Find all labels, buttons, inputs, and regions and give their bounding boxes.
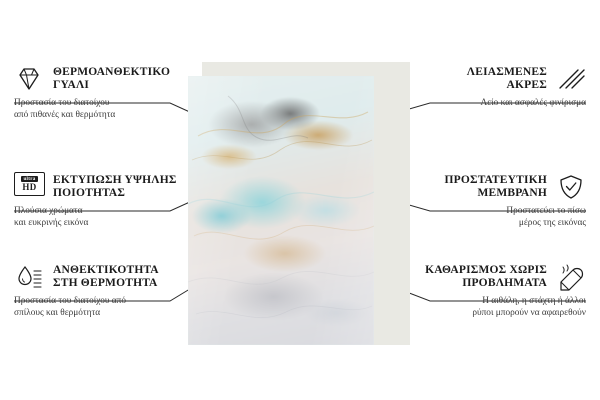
feature-title: ΠΡΟΣΤΑΤΕΥΤΙΚΗ ΜΕΜΒΡΑΝΗ: [445, 174, 547, 200]
feature-title: ΘΕΡΜΟΑΝΘΕΚΤΙΚΟ ΓΥΑΛΙ: [53, 66, 170, 92]
water-drop-heat-icon: [14, 262, 44, 292]
feature-desc-line1: Η αιθάλη, η στάχτη ή άλλοι: [396, 296, 586, 308]
sponge-clean-icon: [556, 262, 586, 292]
feature-desc-line1: Προστασία του διατοίχου: [14, 98, 204, 110]
feature-desc-line2: και ευκρινής εικόνα: [14, 218, 204, 230]
feature-desc-line1: Προστασία του διατοίχου από: [14, 296, 204, 308]
feature-header: ΘΕΡΜΟΑΝΘΕΚΤΙΚΟ ΓΥΑΛΙ: [14, 64, 204, 94]
feature-header: ultra HD ΕΚΤΥΠΩΣΗ ΥΨΗΛΗΣ ΠΟΙΟΤΗΤΑΣ: [14, 172, 204, 202]
ultra-hd-icon: ultra HD: [14, 172, 44, 202]
feature-desc-line1: Πλούσια χρώματα: [14, 206, 204, 218]
feature-header: ΠΡΟΣΤΑΤΕΥΤΙΚΗ ΜΕΜΒΡΑΝΗ: [396, 172, 586, 202]
glass-splashback-preview: [188, 76, 374, 345]
diagonal-lines-icon: [556, 64, 586, 94]
feature-protective-membrane: ΠΡΟΣΤΑΤΕΥΤΙΚΗ ΜΕΜΒΡΑΝΗ Προστατεύει το πί…: [396, 172, 586, 229]
feature-desc-line2: ρύποι μπορούν να αφαιρεθούν: [396, 308, 586, 320]
infographic-stage: ΘΕΡΜΟΑΝΘΕΚΤΙΚΟ ΓΥΑΛΙ Προστασία του διατο…: [0, 0, 600, 400]
feature-title: ΛΕΙΑΣΜΕΝΕΣ ΑΚΡΕΣ: [467, 66, 547, 92]
feature-desc-line2: σπίλους και θερμότητα: [14, 308, 204, 320]
feature-desc-line2: από πιθανές και θερμότητα: [14, 110, 204, 122]
feature-header: ΑΝΘΕΚΤΙΚΟΤΗΤΑ ΣΤΗ ΘΕΡΜΟΤΗΤΑ: [14, 262, 204, 292]
feature-thermal-glass: ΘΕΡΜΟΑΝΘΕΚΤΙΚΟ ΓΥΑΛΙ Προστασία του διατο…: [14, 64, 204, 121]
diamond-icon: [14, 64, 44, 94]
feature-title: ΚΑΘΑΡΙΣΜΟΣ ΧΩΡΙΣ ΠΡΟΒΛΗΜΑΤΑ: [425, 264, 547, 290]
feature-desc-line1: Προστατεύει το πίσω: [396, 206, 586, 218]
feature-easy-cleaning: ΚΑΘΑΡΙΣΜΟΣ ΧΩΡΙΣ ΠΡΟΒΛΗΜΑΤΑ Η αιθάλη, η …: [396, 262, 586, 319]
glass-gloss: [188, 76, 374, 345]
feature-smooth-edges: ΛΕΙΑΣΜΕΝΕΣ ΑΚΡΕΣ Λείο και ασφαλές φινίρι…: [396, 64, 586, 110]
feature-title: ΕΚΤΥΠΩΣΗ ΥΨΗΛΗΣ ΠΟΙΟΤΗΤΑΣ: [53, 174, 177, 200]
product-image: [188, 62, 412, 347]
shield-check-icon: [556, 172, 586, 202]
feature-heat-resistance: ΑΝΘΕΚΤΙΚΟΤΗΤΑ ΣΤΗ ΘΕΡΜΟΤΗΤΑ Προστασία το…: [14, 262, 204, 319]
feature-title: ΑΝΘΕΚΤΙΚΟΤΗΤΑ ΣΤΗ ΘΕΡΜΟΤΗΤΑ: [53, 264, 159, 290]
feature-high-quality-print: ultra HD ΕΚΤΥΠΩΣΗ ΥΨΗΛΗΣ ΠΟΙΟΤΗΤΑΣ Πλούσ…: [14, 172, 204, 229]
feature-header: ΚΑΘΑΡΙΣΜΟΣ ΧΩΡΙΣ ΠΡΟΒΛΗΜΑΤΑ: [396, 262, 586, 292]
feature-header: ΛΕΙΑΣΜΕΝΕΣ ΑΚΡΕΣ: [396, 64, 586, 94]
feature-desc-line1: Λείο και ασφαλές φινίρισμα: [396, 98, 586, 110]
feature-desc-line2: μέρος της εικόνας: [396, 218, 586, 230]
